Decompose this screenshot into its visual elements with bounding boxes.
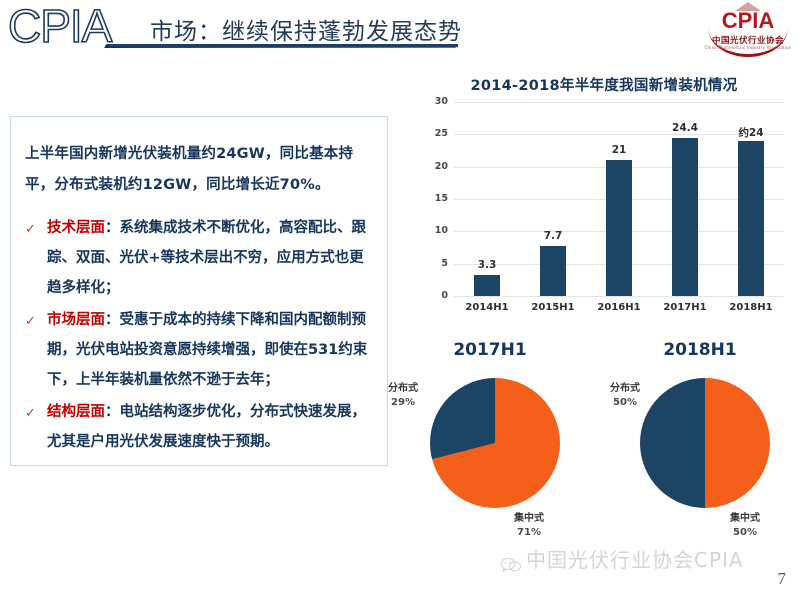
- bar-chart-plot-area: 0510152025303.32014H17.72015H1212016H124…: [454, 102, 784, 296]
- bullet-item-market: ✓ 市场层面：受惠于成本的持续下降和国内配额制预期，光伏电站投资意愿持续增强，即…: [25, 305, 377, 395]
- pie-slice-value: 71%: [514, 526, 544, 540]
- bar-chart-bar: [672, 138, 698, 296]
- bar-chart-x-tick: 2014H1: [452, 302, 522, 313]
- slide-root: CPIA 市场：继续保持蓬勃发展态势 CPIA 中国光伏行业协会 China P…: [0, 0, 800, 593]
- bullet-text: 技术层面：系统集成技术不断优化，高容配比、跟踪、双面、光伏+等技术层出不穷，应用…: [47, 213, 377, 303]
- logo-english-name: China Photovoltaic Industry Association: [702, 45, 794, 50]
- pie-slice-value: 50%: [730, 526, 760, 540]
- check-icon: ✓: [25, 399, 36, 429]
- check-icon: ✓: [25, 307, 36, 337]
- pie-slice-label-distributed: 分布式 50%: [610, 382, 640, 410]
- bar-chart-y-tick: 25: [418, 128, 448, 139]
- bar-chart-y-tick: 0: [418, 290, 448, 301]
- bar-chart-value-label: 7.7: [518, 230, 588, 242]
- bar-chart-y-tick: 5: [418, 258, 448, 269]
- bar-chart-y-tick: 30: [418, 96, 448, 107]
- pie-chart-2018h1: 2018H1 分布式 50% 集中式 50%: [600, 340, 800, 570]
- bar-chart-value-label: 24.4: [650, 122, 720, 134]
- bar-chart-x-tick: 2017H1: [650, 302, 720, 313]
- cpia-wordmark: CPIA: [8, 2, 111, 50]
- pie-chart-title: 2018H1: [600, 340, 800, 360]
- bar-chart-x-tick: 2015H1: [518, 302, 588, 313]
- bar-chart-gridline: [454, 296, 784, 297]
- bar-chart-y-tick: 10: [418, 225, 448, 236]
- wechat-icon: [500, 554, 522, 570]
- pie-chart-title: 2017H1: [390, 340, 590, 360]
- page-title: 市场：继续保持蓬勃发展态势: [150, 12, 462, 46]
- bullet-term: 市场层面: [47, 312, 105, 328]
- cpia-association-logo: CPIA 中国光伏行业协会 China Photovoltaic Industr…: [702, 2, 794, 56]
- pie-slice-name: 集中式: [730, 513, 760, 524]
- pie-slice-value: 50%: [610, 396, 640, 410]
- watermark: 中国光伏行业协会CPIA: [500, 544, 790, 573]
- pie-slice-name: 分布式: [388, 383, 418, 394]
- bar-chart: 2014-2018年半年度我国新增装机情况 0510152025303.3201…: [414, 70, 794, 320]
- pie-slice-label-distributed: 分布式 29%: [388, 382, 418, 410]
- bar-chart-y-tick: 15: [418, 193, 448, 204]
- bullet-term: 结构层面: [47, 404, 105, 420]
- pie-chart-2017h1: 2017H1 分布式 29% 集中式 71%: [390, 340, 590, 570]
- pie-disc: [640, 378, 770, 508]
- pie-slice-label-centralized: 集中式 71%: [514, 512, 544, 540]
- bar-chart-value-label: 21: [584, 144, 654, 156]
- bar-chart-title: 2014-2018年半年度我国新增装机情况: [414, 74, 794, 95]
- page-number: 7: [778, 569, 787, 589]
- bullet-text: 市场层面：受惠于成本的持续下降和国内配额制预期，光伏电站投资意愿持续增强，即使在…: [47, 305, 377, 395]
- bar-chart-bar: [606, 160, 632, 296]
- bar-chart-x-tick: 2018H1: [716, 302, 786, 313]
- bar-chart-y-tick: 20: [418, 161, 448, 172]
- bar-chart-x-tick: 2016H1: [584, 302, 654, 313]
- bar-chart-value-label: 3.3: [452, 259, 522, 271]
- text-panel: 上半年国内新增光伏装机量约24GW，同比基本持平，分布式装机约12GW，同比增长…: [10, 116, 388, 466]
- pie-slice-label-centralized: 集中式 50%: [730, 512, 760, 540]
- bullet-text: 结构层面：电站结构逐步优化，分布式快速发展，尤其是户用光伏发展速度快于预期。: [47, 397, 377, 457]
- bullet-item-technology: ✓ 技术层面：系统集成技术不断优化，高容配比、跟踪、双面、光伏+等技术层出不穷，…: [25, 213, 377, 303]
- bullet-term: 技术层面: [47, 220, 105, 236]
- pie-slice-value: 29%: [388, 396, 418, 410]
- bar-chart-bar: [540, 246, 566, 296]
- pie-slice-name: 集中式: [514, 513, 544, 524]
- bar-chart-gridline: [454, 102, 784, 103]
- bar-chart-value-label: 约24: [716, 125, 786, 140]
- pie-slice-name: 分布式: [610, 383, 640, 394]
- lead-paragraph: 上半年国内新增光伏装机量约24GW，同比基本持平，分布式装机约12GW，同比增长…: [25, 139, 373, 201]
- pie-disc: [430, 378, 560, 508]
- bar-chart-bar: [474, 275, 500, 296]
- slide-header: CPIA 市场：继续保持蓬勃发展态势 CPIA 中国光伏行业协会 China P…: [0, 0, 800, 62]
- watermark-text: 中国光伏行业协会CPIA: [526, 548, 744, 572]
- check-icon: ✓: [25, 215, 36, 245]
- bar-chart-bar: [738, 141, 764, 296]
- bullet-item-structure: ✓ 结构层面：电站结构逐步优化，分布式快速发展，尤其是户用光伏发展速度快于预期。: [25, 397, 377, 457]
